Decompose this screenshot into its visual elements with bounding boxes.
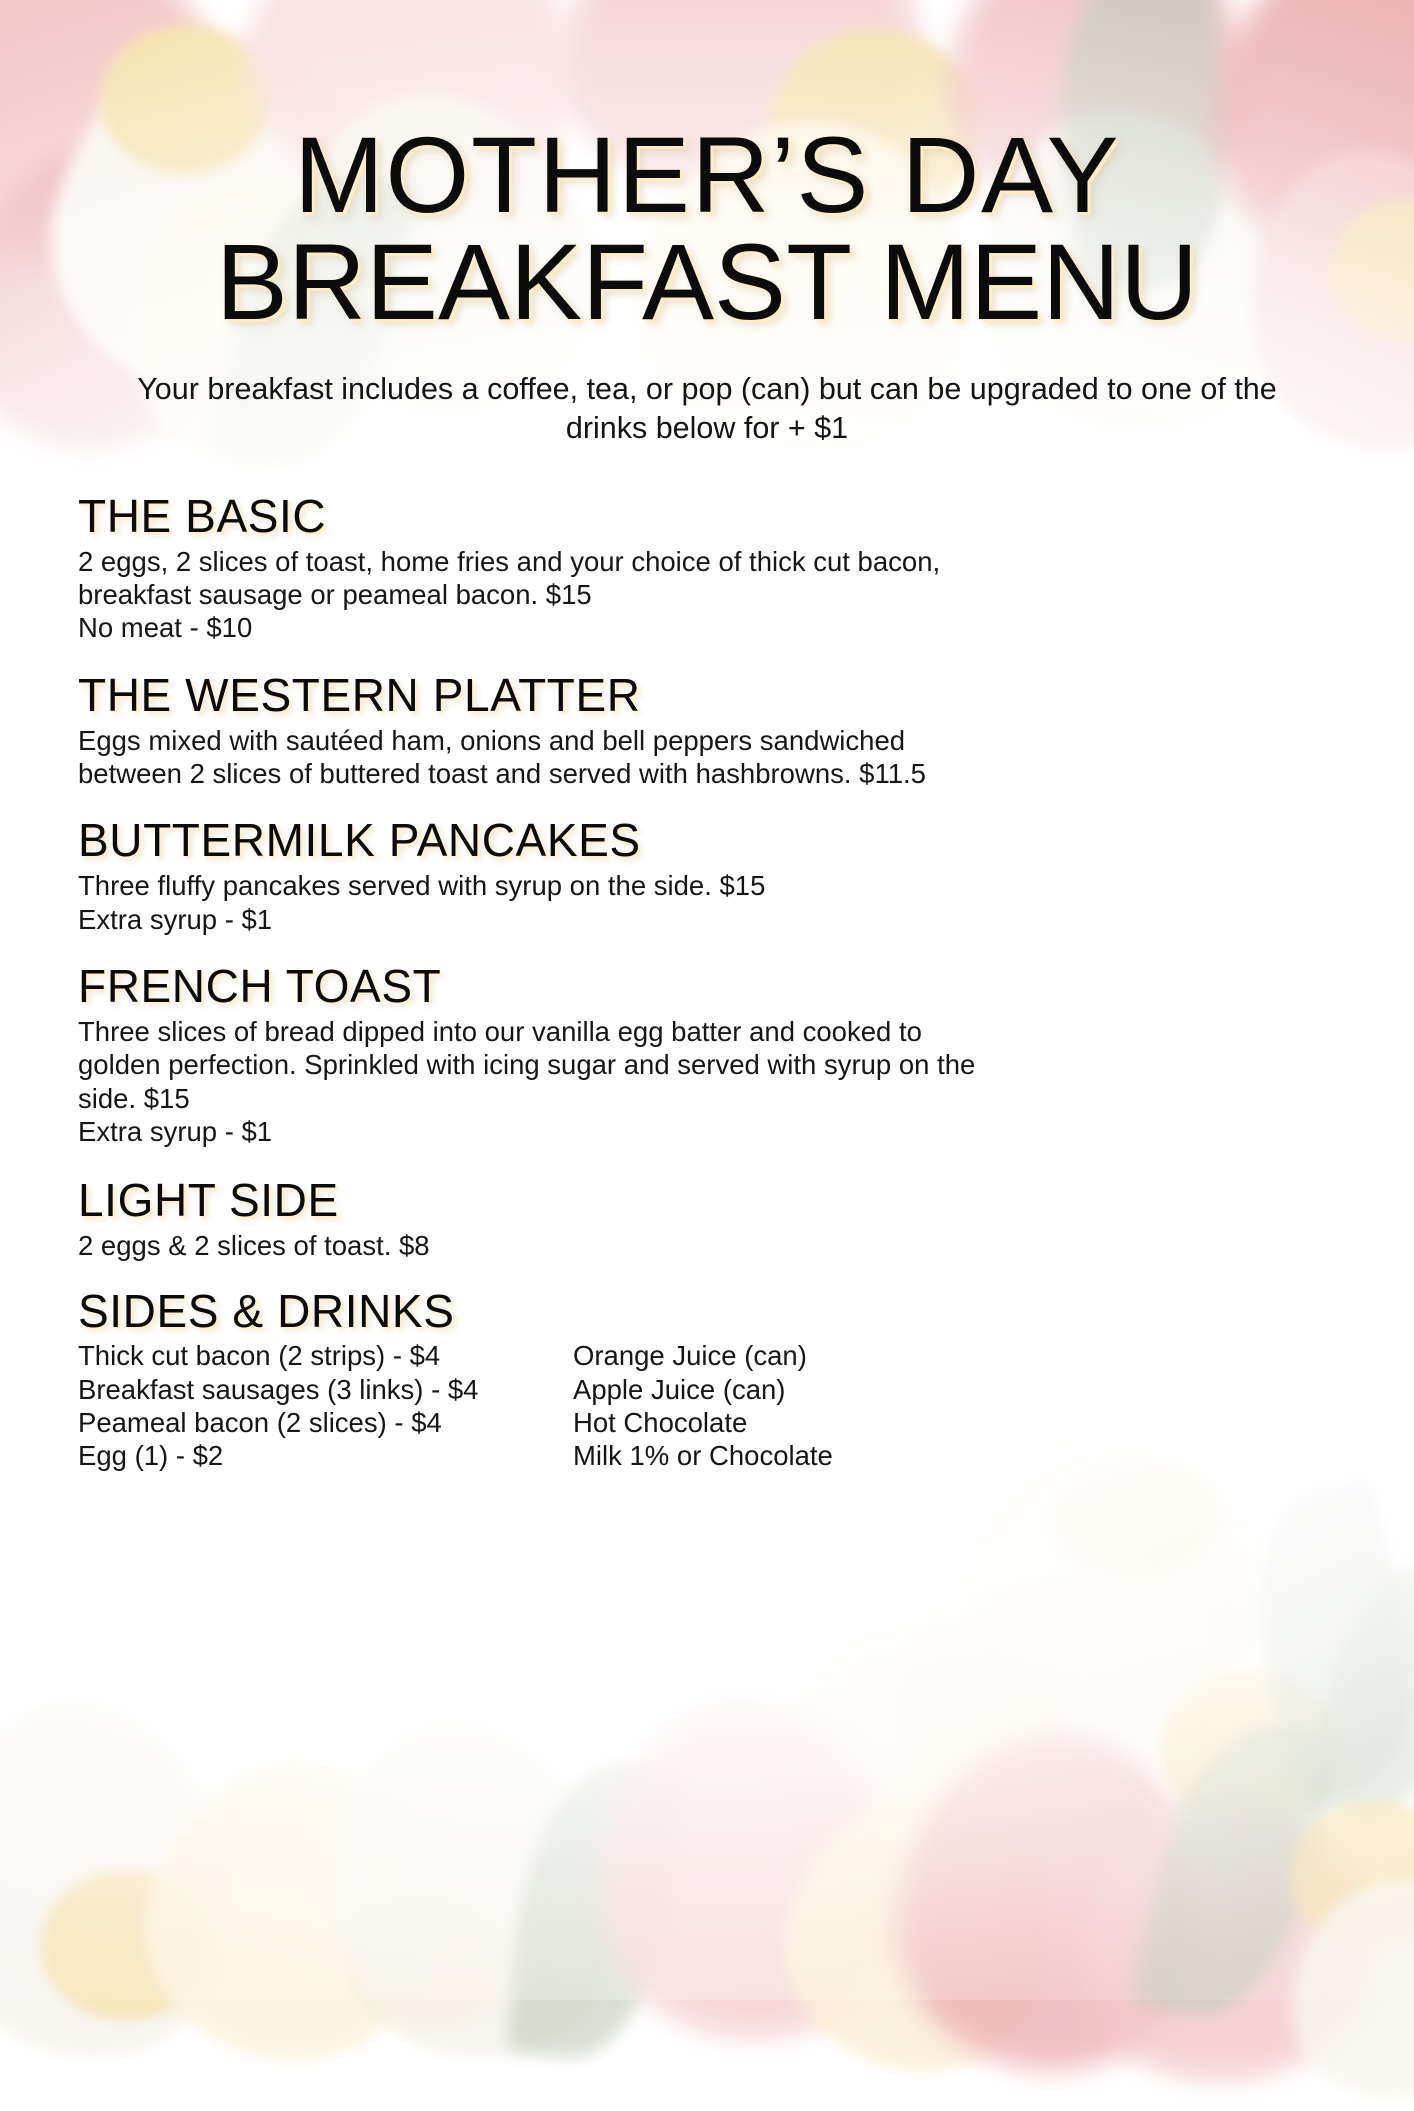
section-body-line: Extra syrup - $1 — [78, 1115, 1078, 1148]
drinks-item: Apple Juice (can) — [573, 1373, 1336, 1406]
section-body-line: Eggs mixed with sautéed ham, onions and … — [78, 724, 1078, 757]
sides-item: Breakfast sausages (3 links) - $4 — [78, 1373, 573, 1406]
section-body-line: Extra syrup - $1 — [78, 903, 1078, 936]
section-heading-sides-and-drinks: SIDES & DRINKS — [78, 1287, 1336, 1336]
section-body-light-side: 2 eggs & 2 slices of toast. $8 — [78, 1229, 1078, 1262]
menu-section-sides-and-drinks: SIDES & DRINKS Thick cut bacon (2 strips… — [78, 1287, 1336, 1473]
menu-section-buttermilk-pancakes: BUTTERMILK PANCAKES Three fluffy pancake… — [78, 816, 1336, 936]
drinks-item: Orange Juice (can) — [573, 1339, 1336, 1372]
section-body-french-toast: Three slices of bread dipped into our va… — [78, 1015, 1078, 1149]
menu-title-line-2: BREAKFAST MENU — [78, 229, 1336, 336]
section-body-line: side. $15 — [78, 1082, 1078, 1115]
drinks-column: Orange Juice (can) Apple Juice (can) Hot… — [573, 1339, 1336, 1473]
sides-item: Peameal bacon (2 slices) - $4 — [78, 1406, 573, 1439]
section-body-line: Three fluffy pancakes served with syrup … — [78, 869, 1078, 902]
menu-section-the-western-platter: THE WESTERN PLATTER Eggs mixed with saut… — [78, 671, 1336, 791]
section-heading-buttermilk-pancakes: BUTTERMILK PANCAKES — [78, 816, 1336, 865]
menu-page: MOTHER’S DAY BREAKFAST MENU Your breakfa… — [0, 0, 1414, 2000]
section-body-line: 2 eggs, 2 slices of toast, home fries an… — [78, 545, 1078, 578]
section-heading-light-side: LIGHT SIDE — [78, 1176, 1336, 1225]
section-body-buttermilk-pancakes: Three fluffy pancakes served with syrup … — [78, 869, 1078, 936]
section-heading-the-western-platter: THE WESTERN PLATTER — [78, 671, 1336, 720]
section-body-line: Three slices of bread dipped into our va… — [78, 1015, 1078, 1048]
menu-section-the-basic: THE BASIC 2 eggs, 2 slices of toast, hom… — [78, 492, 1336, 645]
section-body-line: breakfast sausage or peameal bacon. $15 — [78, 578, 1078, 611]
menu-title-line-1: MOTHER’S DAY — [78, 122, 1336, 229]
menu-subtitle-line-1: Your breakfast includes a coffee, tea, o… — [137, 372, 961, 406]
sides-column: Thick cut bacon (2 strips) - $4 Breakfas… — [78, 1339, 573, 1473]
section-heading-the-basic: THE BASIC — [78, 492, 1336, 541]
drinks-item: Milk 1% or Chocolate — [573, 1439, 1336, 1472]
menu-section-light-side: LIGHT SIDE 2 eggs & 2 slices of toast. $… — [78, 1176, 1336, 1262]
sides-and-drinks-columns: Thick cut bacon (2 strips) - $4 Breakfas… — [78, 1339, 1336, 1473]
drinks-item: Hot Chocolate — [573, 1406, 1336, 1439]
section-body-line: golden perfection. Sprinkled with icing … — [78, 1048, 1078, 1081]
menu-sections: THE BASIC 2 eggs, 2 slices of toast, hom… — [78, 492, 1336, 1473]
sides-item: Egg (1) - $2 — [78, 1439, 573, 1472]
menu-subtitle: Your breakfast includes a coffee, tea, o… — [78, 370, 1336, 448]
section-body-line: 2 eggs & 2 slices of toast. $8 — [78, 1229, 1078, 1262]
section-body-the-basic: 2 eggs, 2 slices of toast, home fries an… — [78, 545, 1078, 645]
sides-item: Thick cut bacon (2 strips) - $4 — [78, 1339, 573, 1372]
section-body-line: No meat - $10 — [78, 611, 1078, 644]
section-body-line: between 2 slices of buttered toast and s… — [78, 757, 1078, 790]
section-body-the-western-platter: Eggs mixed with sautéed ham, onions and … — [78, 724, 1078, 791]
menu-section-french-toast: FRENCH TOAST Three slices of bread dippe… — [78, 962, 1336, 1148]
section-heading-french-toast: FRENCH TOAST — [78, 962, 1336, 1011]
menu-title-block: MOTHER’S DAY BREAKFAST MENU — [78, 0, 1336, 336]
